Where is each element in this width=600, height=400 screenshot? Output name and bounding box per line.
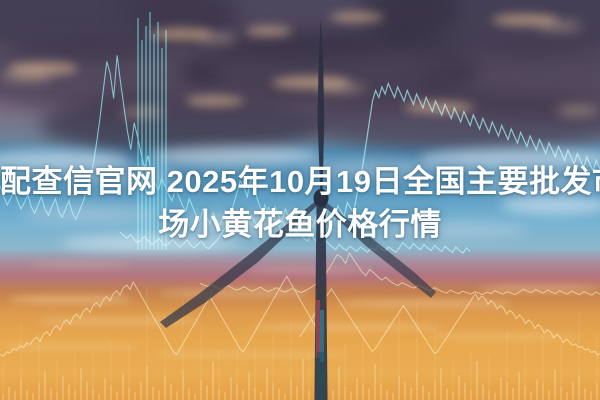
banner-image: 配查信官网 2025年10月19日全国主要批发市 场小黄花鱼价格行情 xyxy=(0,0,600,400)
title-line-1: 配查信官网 2025年10月19日全国主要批发市 xyxy=(0,160,600,203)
banner-title: 配查信官网 2025年10月19日全国主要批发市 场小黄花鱼价格行情 xyxy=(0,160,600,246)
title-line-2: 场小黄花鱼价格行情 xyxy=(0,203,600,246)
